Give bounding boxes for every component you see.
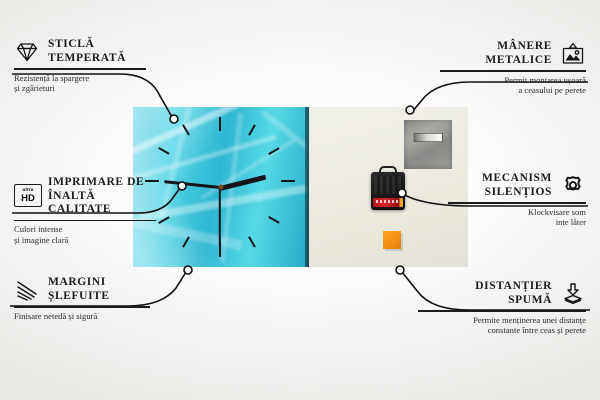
callout-title: IMPRIMARE DE ÎNALTĂ CALITATE: [48, 176, 156, 217]
clock-center-pin: [219, 185, 224, 190]
callout-divider: [418, 310, 586, 312]
badge-hd-label: HD: [21, 194, 35, 204]
callout-title: MARGINI ȘLEFUITE: [48, 276, 110, 303]
callout-subtitle-line2: și zgârieturi: [14, 83, 146, 94]
callout-header: MECANISM SILENȚIOS: [448, 172, 586, 199]
callout-subtitle-line1: Permit montarea ușoară: [440, 75, 586, 86]
callout-subtitle-line1: Klockvisare som: [448, 207, 586, 218]
callout-header: STICLĂ TEMPERATĂ: [14, 38, 146, 65]
callout-subtitle-line1: Finisare netedă și sigură: [14, 311, 150, 322]
battery-label: [376, 200, 398, 203]
callout-divider: [448, 202, 586, 204]
callout-hd-print[interactable]: ultra HD IMPRIMARE DE ÎNALTĂ CALITATE Cu…: [14, 176, 156, 245]
infographic-stage: STICLĂ TEMPERATĂ Rezistență la spargere …: [0, 0, 600, 400]
callout-title: MECANISM SILENȚIOS: [482, 172, 552, 199]
callout-subtitle-line1: Rezistență la spargere: [14, 73, 146, 84]
clock-tick: [281, 180, 295, 182]
product-photo: [133, 107, 468, 267]
clock-movement: [371, 172, 405, 210]
callout-subtitle-line1: Permite menținerea unei distanțe: [418, 315, 586, 326]
clock-back-panel: [309, 107, 468, 267]
callout-header: ultra HD IMPRIMARE DE ÎNALTĂ CALITATE: [14, 176, 156, 217]
callout-divider: [14, 306, 150, 308]
picture-frame-hanger-icon: [560, 42, 586, 66]
connector-dot-spacer: [396, 266, 404, 274]
diagonal-lines-icon: [14, 278, 40, 302]
callout-title: MÂNERE METALICE: [485, 40, 552, 67]
arrow-down-layers-icon: [560, 282, 586, 306]
callout-divider: [14, 220, 156, 222]
callout-subtitle-line1: Culori intense: [14, 224, 156, 235]
callout-metal-handles[interactable]: MÂNERE METALICE Permit montarea ușoară a…: [440, 40, 586, 96]
callout-subtitle-line2: a ceasului pe perete: [440, 85, 586, 96]
connector-dot-edges: [184, 266, 192, 274]
ultra-hd-badge-icon: ultra HD: [14, 184, 40, 208]
diamond-icon: [14, 40, 40, 64]
callout-subtitle-line2: și imagine clară: [14, 235, 156, 246]
foam-spacer: [383, 231, 401, 249]
callout-header: DISTANȚIER SPUMĂ: [418, 280, 586, 307]
callout-foam-spacer[interactable]: DISTANȚIER SPUMĂ Permite menținerea unei…: [418, 280, 586, 336]
hanger-slot: [413, 133, 443, 142]
metal-hanger-plate: [404, 120, 452, 169]
callout-title: DISTANȚIER SPUMĂ: [475, 280, 552, 307]
callout-subtitle-line2: constante între ceas și perete: [418, 325, 586, 336]
callout-header: MARGINI ȘLEFUITE: [14, 276, 150, 303]
callout-divider: [14, 68, 146, 70]
movement-housing: [374, 176, 402, 194]
callout-title: STICLĂ TEMPERATĂ: [48, 38, 126, 65]
callout-silent-mechanism[interactable]: MECANISM SILENȚIOS Klockvisare som inte …: [448, 172, 586, 228]
battery: [373, 198, 403, 207]
callout-divider: [440, 70, 586, 72]
clock-second-hand: [219, 188, 221, 246]
clock-tick: [219, 117, 221, 131]
gear-icon: [560, 174, 586, 198]
callout-tempered-glass[interactable]: STICLĂ TEMPERATĂ Rezistență la spargere …: [14, 38, 146, 94]
callout-polished-edges[interactable]: MARGINI ȘLEFUITE Finisare netedă și sigu…: [14, 276, 150, 321]
callout-subtitle-line2: inte låter: [448, 217, 586, 228]
clock-face-panel: [133, 107, 309, 267]
callout-header: MÂNERE METALICE: [440, 40, 586, 67]
